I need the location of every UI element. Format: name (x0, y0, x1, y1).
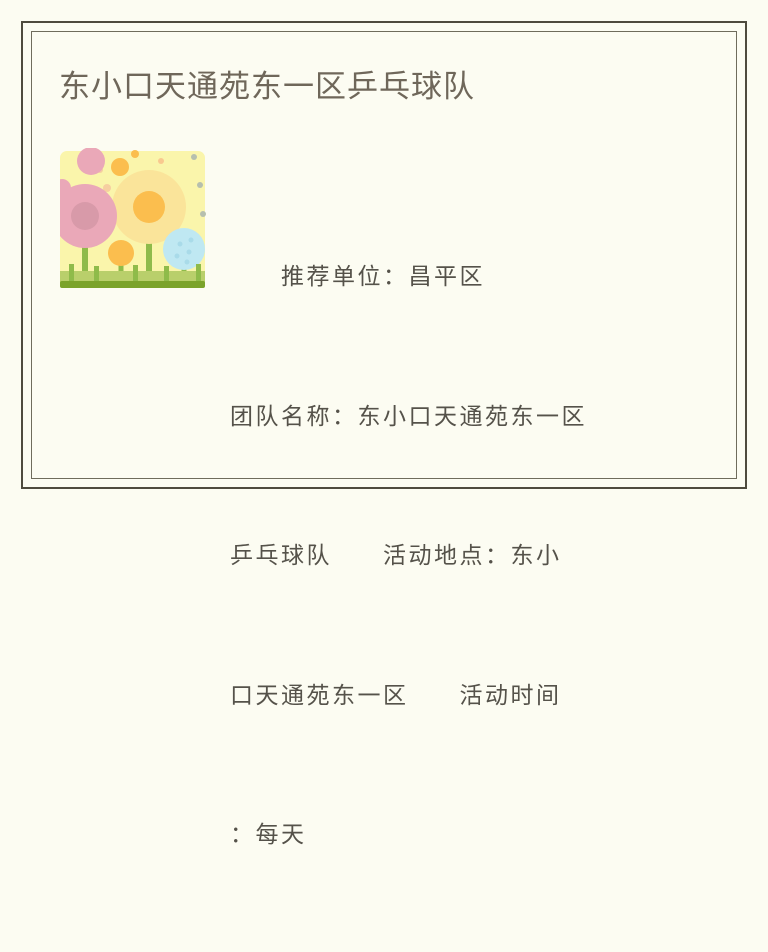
page-title: 东小口天通苑东一区乒乓球队 (59, 68, 475, 106)
body-line-5: ：每天 (230, 812, 675, 859)
body-line-4: 口天通苑东一区 活动时间 (230, 673, 675, 720)
article-page: 东小口天通苑东一区乒乓球队 (0, 0, 768, 510)
flower-illustration-icon (60, 148, 209, 293)
body-line-1: 推荐单位：昌平区 (230, 254, 675, 301)
body-line-2: 团队名称：东小口天通苑东一区 (230, 394, 675, 441)
article-body: 推荐单位：昌平区 团队名称：东小口天通苑东一区 乒乓球队 活动地点：东小 口天通… (230, 161, 675, 952)
thumbnail-image (60, 148, 209, 293)
body-line-3: 乒乓球队 活动地点：东小 (230, 533, 675, 580)
article-content: 东小口天通苑东一区乒乓球队 (31, 31, 737, 479)
